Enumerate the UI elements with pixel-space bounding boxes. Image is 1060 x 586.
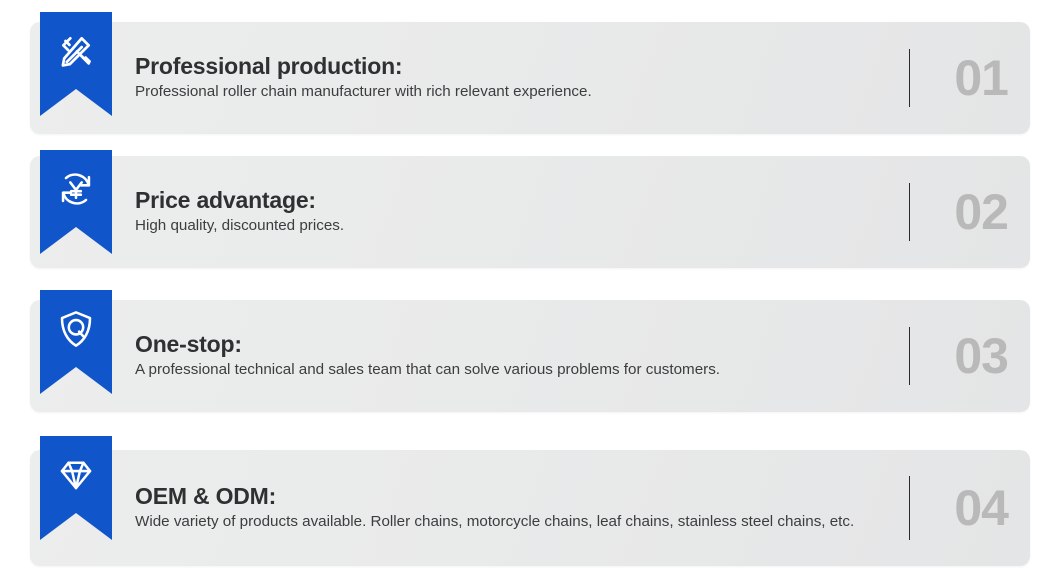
feature-description-3: A professional technical and sales team …: [135, 360, 875, 381]
feature-title-1: Professional production:: [135, 53, 875, 80]
feature-description-4: Wide variety of products available. Roll…: [135, 512, 875, 533]
feature-number-3: 03: [954, 331, 1008, 381]
feature-description-1: Professional roller chain manufacturer w…: [135, 82, 875, 103]
feature-list-board: Professional production: Professional ro…: [0, 0, 1060, 586]
feature-divider-4: [909, 476, 910, 540]
feature-title-4: OEM & ODM:: [135, 483, 875, 510]
feature-text-block-2: Price advantage: High quality, discounte…: [135, 156, 875, 268]
yen-currency-cycle-icon: [55, 150, 97, 210]
feature-number-1: 01: [954, 53, 1008, 103]
feature-text-block-3: One-stop: A professional technical and s…: [135, 300, 875, 412]
crossed-pen-wrench-icon: [55, 12, 97, 72]
feature-divider-2: [909, 183, 910, 241]
feature-title-3: One-stop:: [135, 331, 875, 358]
feature-card-1: Professional production: Professional ro…: [30, 22, 1030, 134]
feature-card-3: One-stop: A professional technical and s…: [30, 300, 1030, 412]
feature-text-block-1: Professional production: Professional ro…: [135, 22, 875, 134]
feature-text-block-4: OEM & ODM: Wide variety of products avai…: [135, 450, 875, 566]
feature-description-2: High quality, discounted prices.: [135, 216, 875, 237]
diamond-gem-icon: [55, 436, 97, 496]
feature-number-2: 02: [954, 187, 1008, 237]
feature-card-2: Price advantage: High quality, discounte…: [30, 156, 1030, 268]
feature-title-2: Price advantage:: [135, 187, 875, 214]
feature-divider-3: [909, 327, 910, 385]
feature-card-4: OEM & ODM: Wide variety of products avai…: [30, 450, 1030, 566]
feature-number-4: 04: [954, 483, 1008, 533]
shield-quality-icon: [55, 290, 97, 350]
feature-divider-1: [909, 49, 910, 107]
